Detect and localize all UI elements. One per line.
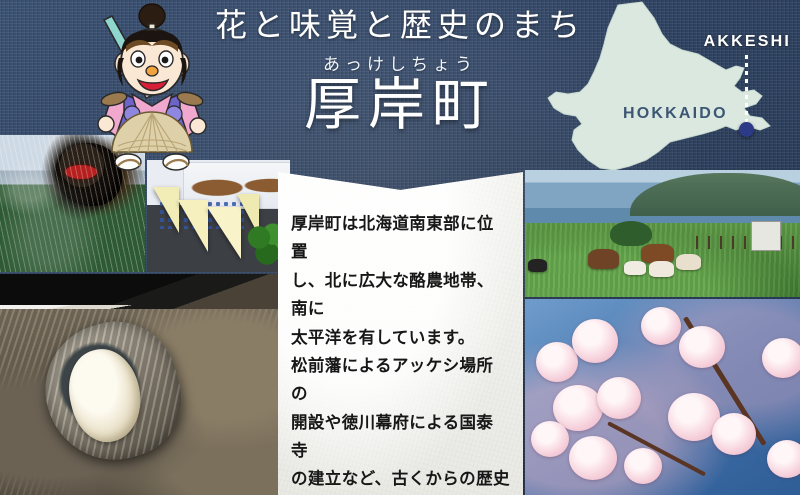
map-label-akkeshi: AKKESHI [704, 33, 791, 51]
pasture-animal [641, 244, 674, 263]
photo-pasture [525, 170, 800, 297]
pasture-animal [676, 254, 701, 271]
akkeshi-leader-line [745, 55, 748, 127]
title-block: 花と味覚と歴史のまち あっけしちょう 厚岸町 [200, 8, 600, 136]
sakura-blossom [767, 440, 800, 478]
sakura-blossom [624, 448, 662, 484]
pasture-signboard [751, 221, 781, 251]
pasture-tree [610, 221, 651, 246]
page-title: 厚岸町 [200, 76, 600, 136]
cheese-wedge [153, 187, 179, 233]
tagline: 花と味覚と歴史のまち [200, 8, 600, 43]
cheese-wedge [178, 200, 208, 252]
pasture-animal [588, 249, 618, 269]
map-label-hokkaido: HOKKAIDO [623, 105, 728, 123]
sakura-blossom [569, 436, 617, 480]
description-panel: 厚岸町は北海道南東部に位置 し、北に広大な酪農地帯、南に 太平洋を有しています。… [278, 172, 523, 495]
akkeshi-location-marker [739, 122, 754, 137]
photo-sakura [525, 299, 800, 495]
sakura-blossom [572, 319, 618, 363]
pasture-animal [649, 261, 674, 276]
sakura-blossom [531, 421, 569, 457]
photo-oyster [0, 274, 290, 495]
mascot-hand [190, 118, 206, 134]
sakura-blossom [712, 413, 756, 455]
mascot-character [88, 2, 216, 180]
sakura-blossom [597, 377, 641, 419]
mascot-hand [98, 116, 114, 132]
pasture-animal [528, 259, 547, 272]
sakura-blossom [641, 307, 681, 345]
pasture-animal [624, 261, 646, 275]
sakura-blossom [762, 338, 800, 378]
akkeshi-town-banner: HOKKAIDO AKKESHI 花と味覚と歴史のまち あっけしちょう 厚岸町 [0, 0, 800, 495]
description-text: 厚岸町は北海道南東部に位置 し、北に広大な酪農地帯、南に 太平洋を有しています。… [291, 210, 510, 495]
mascot-nose [146, 66, 158, 76]
sakura-blossom [536, 342, 578, 382]
cheese-wedge [207, 207, 241, 259]
